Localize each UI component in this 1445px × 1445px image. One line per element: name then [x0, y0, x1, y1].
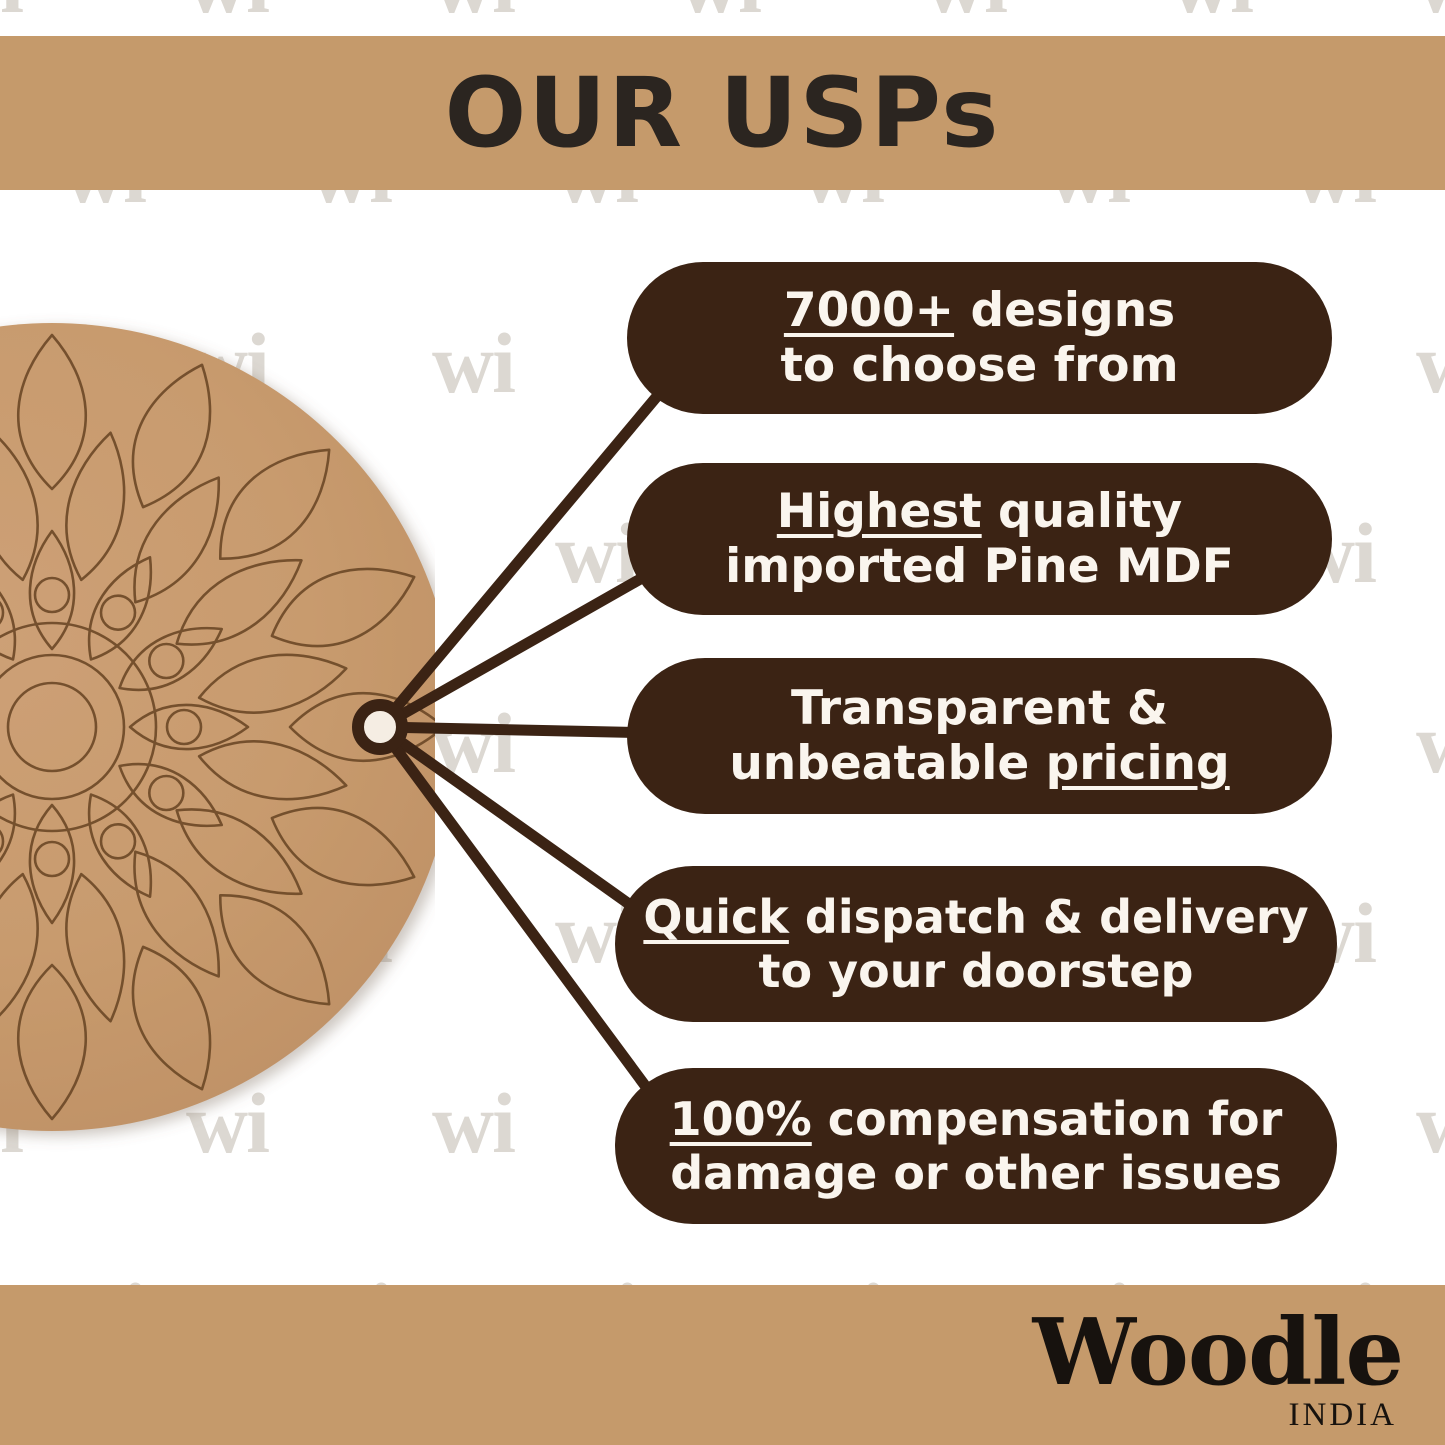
usp-text-line: Transparent &: [791, 681, 1168, 736]
usp-text-line: 7000+ designs: [784, 283, 1175, 338]
usp-text-line: unbeatable pricing: [729, 736, 1229, 791]
hub-node: [352, 699, 408, 755]
watermark-wi: wi: [1416, 320, 1445, 406]
brand-logo-wordmark: Woodle: [1033, 1310, 1403, 1395]
page-title: OUR USPs: [0, 36, 1445, 190]
usp-text-line: to your doorstep: [759, 944, 1194, 998]
usp-text-line: imported Pine MDF: [725, 539, 1234, 594]
brand-logo: Woodle INDIA: [1033, 1310, 1403, 1434]
usp-pill-pricing[interactable]: Transparent &unbeatable pricing: [627, 658, 1332, 814]
infographic-canvas: wiwiwiwiwiwiwiwiwiwiwiwiwiwiwiwiwiwiwiwi…: [0, 0, 1445, 1445]
usp-pill-quality[interactable]: Highest qualityimported Pine MDF: [627, 463, 1332, 615]
watermark-wi: wi: [678, 0, 760, 26]
watermark-wi: wi: [432, 1080, 514, 1166]
watermark-wi: wi: [1416, 1080, 1445, 1166]
watermark-wi: wi: [186, 0, 268, 26]
watermark-wi: wi: [1416, 0, 1445, 26]
usp-pill-dispatch[interactable]: Quick dispatch & deliveryto your doorste…: [615, 866, 1337, 1022]
watermark-wi: wi: [1416, 700, 1445, 786]
usp-text-line: to choose from: [780, 338, 1178, 393]
watermark-wi: wi: [924, 0, 1006, 26]
watermark-wi: wi: [1170, 0, 1252, 26]
usp-pill-designs[interactable]: 7000+ designsto choose from: [627, 262, 1332, 414]
usp-text-line: Highest quality: [777, 484, 1182, 539]
watermark-wi: wi: [432, 700, 514, 786]
usp-text-line: 100% compensation for: [670, 1092, 1283, 1146]
usp-text-line: damage or other issues: [670, 1146, 1281, 1200]
watermark-wi: wi: [432, 0, 514, 26]
watermark-wi: wi: [0, 0, 22, 26]
watermark-wi: wi: [555, 510, 637, 596]
usp-text-line: Quick dispatch & delivery: [643, 890, 1308, 944]
watermark-wi: wi: [432, 320, 514, 406]
usp-pill-compensation[interactable]: 100% compensation fordamage or other iss…: [615, 1068, 1337, 1224]
